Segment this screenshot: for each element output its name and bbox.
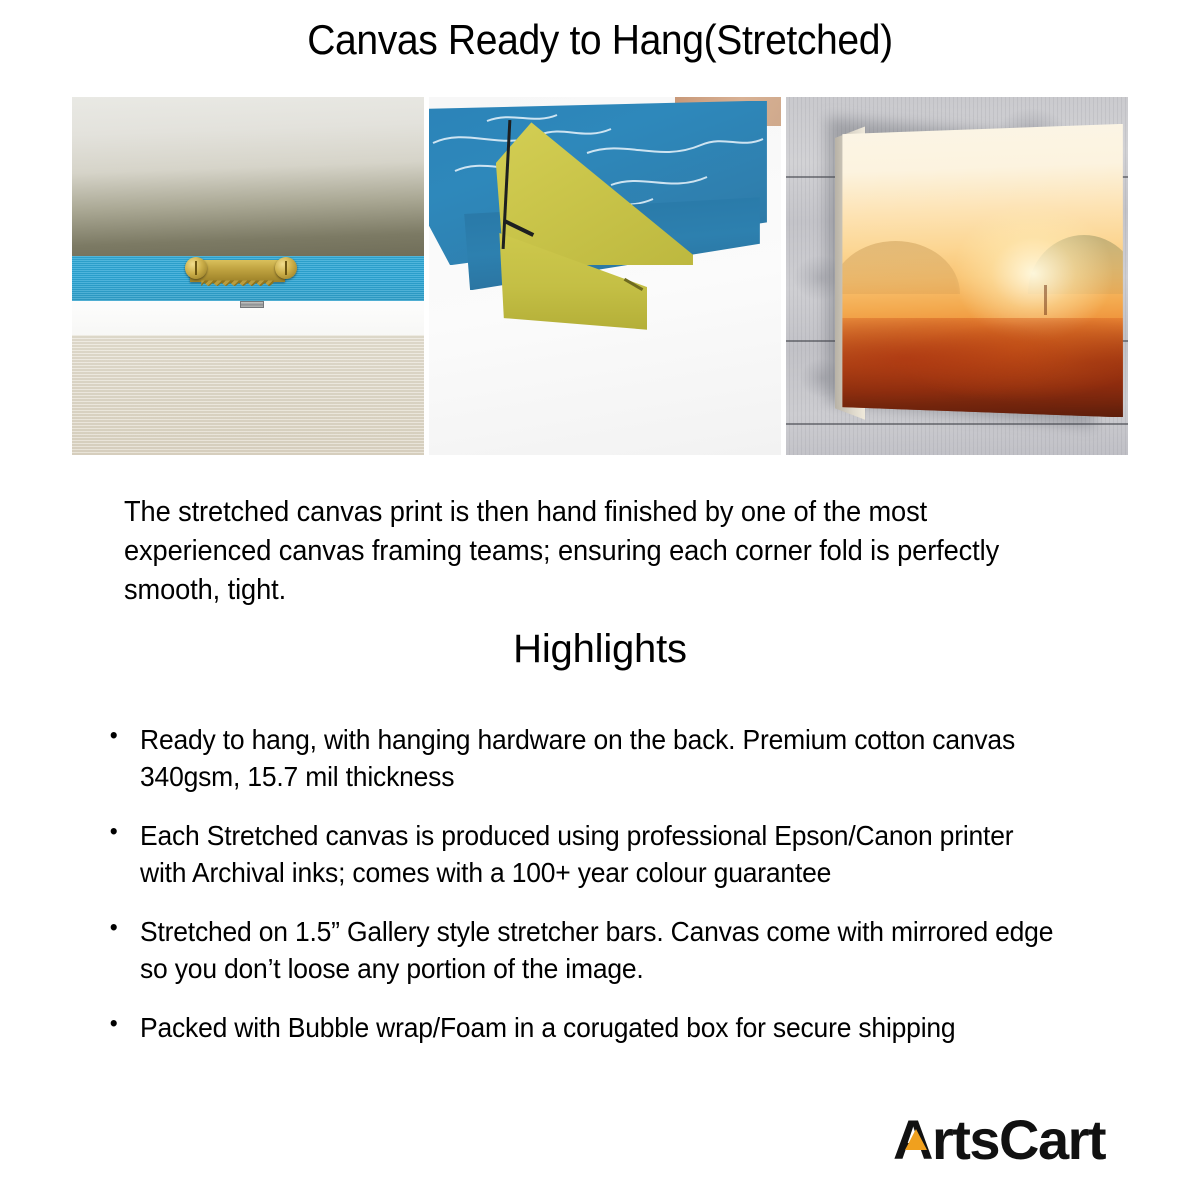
- canvas-back-hanger-image: [72, 97, 424, 455]
- town-spire: [1044, 285, 1047, 314]
- list-item: Packed with Bubble wrap/Foam in a coruga…: [106, 1010, 1060, 1047]
- triangle-icon: [905, 1129, 927, 1150]
- product-image-gallery: [72, 97, 1128, 455]
- list-item: Stretched on 1.5” Gallery style stretche…: [106, 914, 1060, 988]
- page-title: Canvas Ready to Hang(Stretched): [42, 16, 1158, 64]
- foreground-foliage: [842, 318, 1122, 418]
- brand-logo: ArtsCart: [893, 1112, 1105, 1170]
- description-paragraph: The stretched canvas print is then hand …: [124, 493, 1041, 610]
- canvas-back-surface: [72, 335, 424, 455]
- list-item: Ready to hang, with hanging hardware on …: [106, 722, 1060, 796]
- highlights-list: Ready to hang, with hanging hardware on …: [106, 722, 1116, 1069]
- canvas-corner-fold-image: [429, 97, 781, 455]
- wall-background: [72, 97, 424, 258]
- product-infographic: Canvas Ready to Hang(Stretched): [0, 0, 1200, 1200]
- hill-left: [842, 241, 960, 294]
- list-item: Each Stretched canvas is produced using …: [106, 818, 1060, 892]
- canvas-mounted-on-wall-image: [786, 97, 1128, 455]
- highlights-heading: Highlights: [0, 627, 1200, 672]
- sunset-landscape-print: [842, 124, 1122, 418]
- staple-icon: [240, 301, 264, 308]
- hanger-screw-right-icon: [275, 257, 297, 279]
